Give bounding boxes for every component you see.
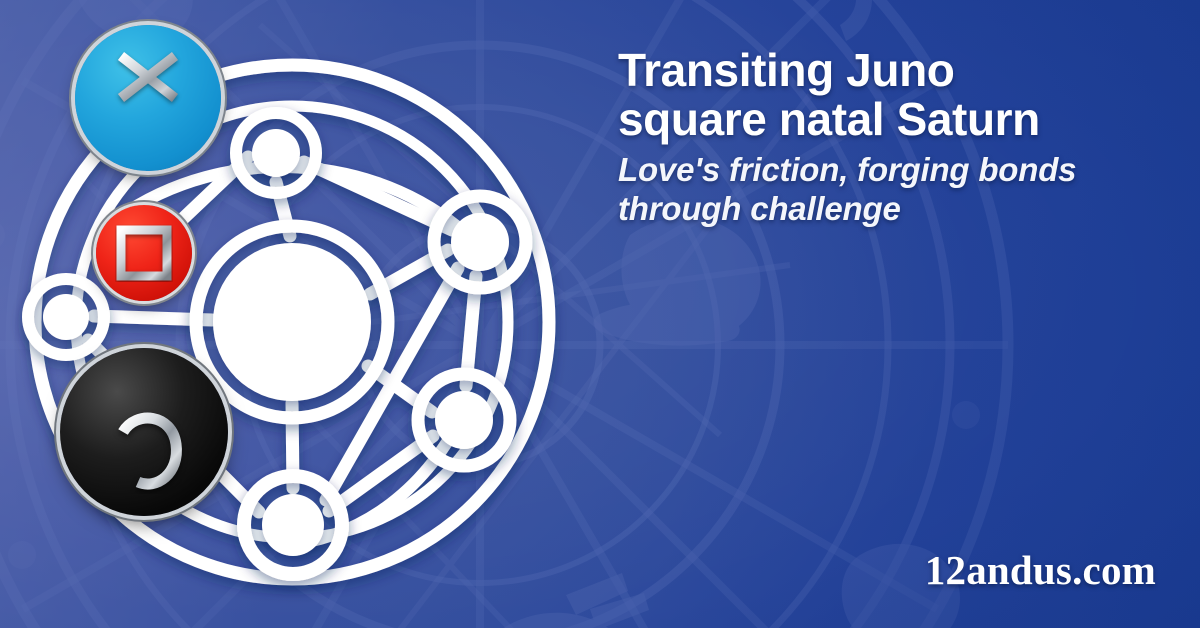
page-subtitle: Love's friction, forging bonds through c… <box>618 150 1178 228</box>
juno-badge <box>75 25 221 171</box>
page-title: Transiting Juno square natal Saturn <box>618 46 1178 144</box>
astrology-aspect-social-card: Transiting Juno square natal Saturn Love… <box>0 0 1200 628</box>
saturn-glyph <box>90 370 198 494</box>
square-aspect-badge <box>96 205 192 301</box>
juno-glyph <box>96 42 200 154</box>
headline-block: Transiting Juno square natal Saturn Love… <box>618 46 1178 228</box>
square-aspect-glyph <box>115 224 173 282</box>
saturn-badge <box>60 348 228 516</box>
brand-logo[interactable]: 12andus.com <box>925 546 1156 594</box>
